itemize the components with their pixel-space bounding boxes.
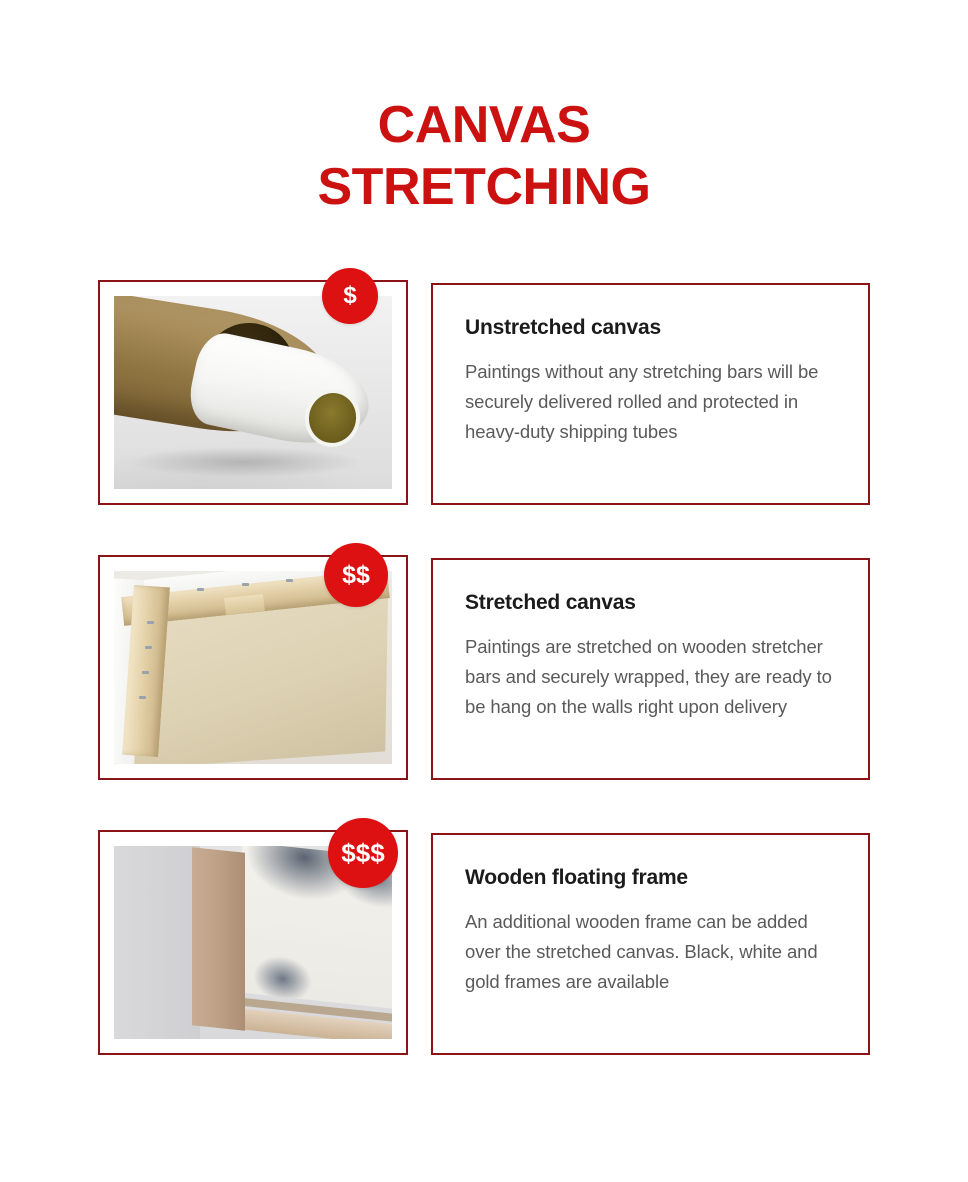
card-heading: Stretched canvas bbox=[465, 590, 836, 616]
frame-side-rail bbox=[192, 847, 245, 1030]
card-heading: Wooden floating frame bbox=[465, 865, 836, 891]
staple bbox=[242, 583, 249, 586]
canvas-stretching-infographic: CANVAS STRETCHING $ Unstretched canvas P… bbox=[0, 0, 968, 1182]
card-heading: Unstretched canvas bbox=[465, 315, 836, 341]
rolled-canvas bbox=[184, 329, 377, 457]
price-badge: $$$ bbox=[328, 818, 398, 888]
card-description: Paintings are stretched on wooden stretc… bbox=[465, 632, 836, 722]
card-description: An additional wooden frame can be added … bbox=[465, 907, 836, 997]
image-card-unstretched-canvas: $ bbox=[98, 280, 408, 505]
card-description: Paintings without any stretching bars wi… bbox=[465, 357, 836, 447]
image-card-wooden-floating-frame: $$$ bbox=[98, 830, 408, 1055]
text-card-unstretched-canvas: Unstretched canvas Paintings without any… bbox=[431, 283, 870, 505]
staple bbox=[286, 579, 293, 582]
tube-shadow bbox=[131, 447, 359, 478]
page-title-line-2: STRETCHING bbox=[0, 156, 968, 218]
image-card-stretched-canvas: $$ bbox=[98, 555, 408, 780]
price-badge: $ bbox=[322, 268, 378, 324]
price-badge: $$ bbox=[324, 543, 388, 607]
text-card-wooden-floating-frame: Wooden floating frame An additional wood… bbox=[431, 833, 870, 1055]
staple bbox=[142, 671, 149, 674]
page-title: CANVAS STRETCHING bbox=[0, 94, 968, 218]
staple bbox=[145, 646, 152, 649]
option-row-unstretched-canvas: $ Unstretched canvas Paintings without a… bbox=[0, 280, 968, 505]
page-title-line-1: CANVAS bbox=[0, 94, 968, 156]
staple bbox=[197, 588, 204, 591]
text-card-stretched-canvas: Stretched canvas Paintings are stretched… bbox=[431, 558, 870, 780]
staple bbox=[147, 621, 154, 624]
staple bbox=[139, 696, 146, 699]
option-list: $ Unstretched canvas Paintings without a… bbox=[0, 280, 968, 1055]
option-row-stretched-canvas: $$ Stretched canvas Paintings are stretc… bbox=[0, 555, 968, 780]
photo-shipping-tube bbox=[114, 296, 392, 489]
option-row-wooden-floating-frame: $$$ Wooden floating frame An additional … bbox=[0, 830, 968, 1055]
wall-background bbox=[114, 846, 200, 1039]
